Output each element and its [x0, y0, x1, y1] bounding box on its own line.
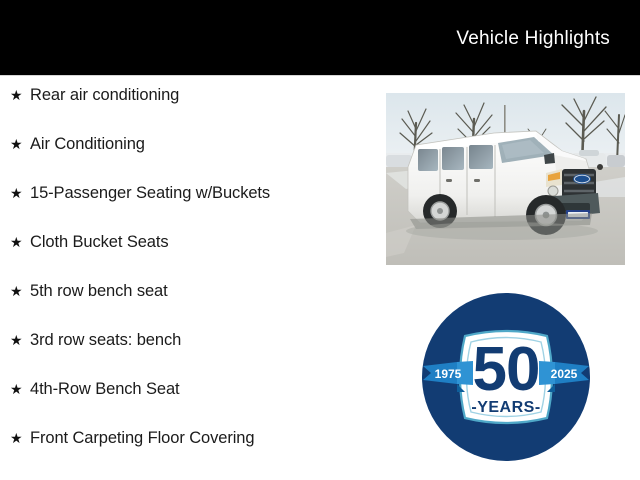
highlight-label: 5th row bench seat — [30, 282, 168, 301]
list-item: ★ Cloth Bucket Seats — [0, 233, 380, 282]
page-title: Vehicle Highlights — [456, 28, 610, 50]
highlight-label: Air Conditioning — [30, 135, 145, 154]
list-item: ★ 4th-Row Bench Seat — [0, 380, 380, 429]
end-year-label: 2025 — [551, 367, 578, 381]
highlight-label: 3rd row seats: bench — [30, 331, 181, 350]
highlight-label: 4th-Row Bench Seat — [30, 380, 180, 399]
star-bullet-icon: ★ — [10, 88, 30, 102]
highlight-label: Cloth Bucket Seats — [30, 233, 169, 252]
star-bullet-icon: ★ — [10, 186, 30, 200]
vehicle-highlights-list: ★ Rear air conditioning ★ Air Conditioni… — [0, 86, 380, 478]
highlight-label: Rear air conditioning — [30, 86, 179, 105]
star-bullet-icon: ★ — [10, 137, 30, 151]
star-bullet-icon: ★ — [10, 431, 30, 445]
star-bullet-icon: ★ — [10, 382, 30, 396]
anniversary-badge: 1975 2025 50 -YEARS- — [421, 292, 591, 462]
header-divider — [0, 75, 640, 76]
list-item: ★ Front Carpeting Floor Covering — [0, 429, 380, 478]
years-number: 50 — [473, 335, 540, 404]
star-bullet-icon: ★ — [10, 235, 30, 249]
list-item: ★ Rear air conditioning — [0, 86, 380, 135]
start-year-label: 1975 — [435, 367, 462, 381]
highlight-label: 15-Passenger Seating w/Buckets — [30, 184, 270, 203]
highlight-label: Front Carpeting Floor Covering — [30, 429, 254, 448]
years-word: -YEARS- — [471, 399, 540, 416]
list-item: ★ 5th row bench seat — [0, 282, 380, 331]
list-item: ★ 15-Passenger Seating w/Buckets — [0, 184, 380, 233]
star-bullet-icon: ★ — [10, 333, 30, 347]
list-item: ★ Air Conditioning — [0, 135, 380, 184]
list-item: ★ 3rd row seats: bench — [0, 331, 380, 380]
vehicle-photo — [386, 93, 625, 265]
star-bullet-icon: ★ — [10, 284, 30, 298]
